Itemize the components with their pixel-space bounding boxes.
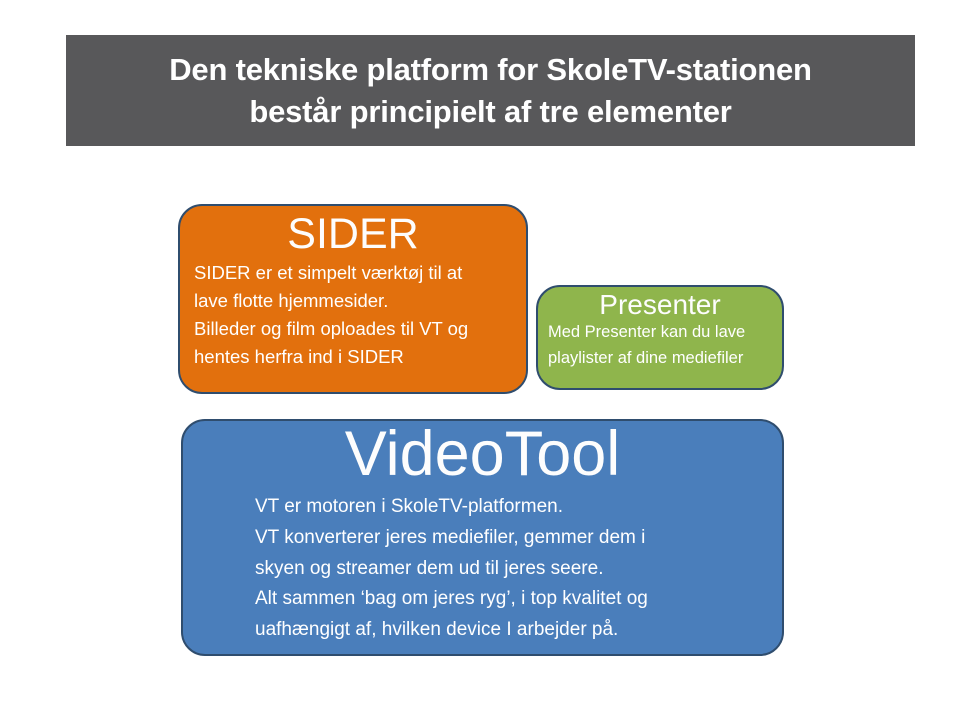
sider-box[interactable]: SIDER SIDER er et simpelt værktøj til at… [178,204,528,394]
sider-heading: SIDER [180,212,526,257]
videotool-box[interactable]: VideoTool VT er motoren i SkoleTV-platfo… [181,419,784,656]
sider-body-text: SIDER er et simpelt værktøj til at lave … [194,259,526,371]
slide-title-text: Den tekniske platform for SkoleTV-statio… [169,49,812,131]
videotool-heading: VideoTool [183,423,782,486]
presenter-body-text: Med Presenter kan du lave playlister af … [548,320,782,371]
slide-title-banner: Den tekniske platform for SkoleTV-statio… [66,35,915,146]
presenter-heading: Presenter [538,290,782,319]
videotool-body-text: VT er motoren i SkoleTV-platformen. VT k… [255,492,782,646]
presenter-box[interactable]: Presenter Med Presenter kan du lave play… [536,285,784,390]
slide-canvas: Den tekniske platform for SkoleTV-statio… [0,0,960,720]
